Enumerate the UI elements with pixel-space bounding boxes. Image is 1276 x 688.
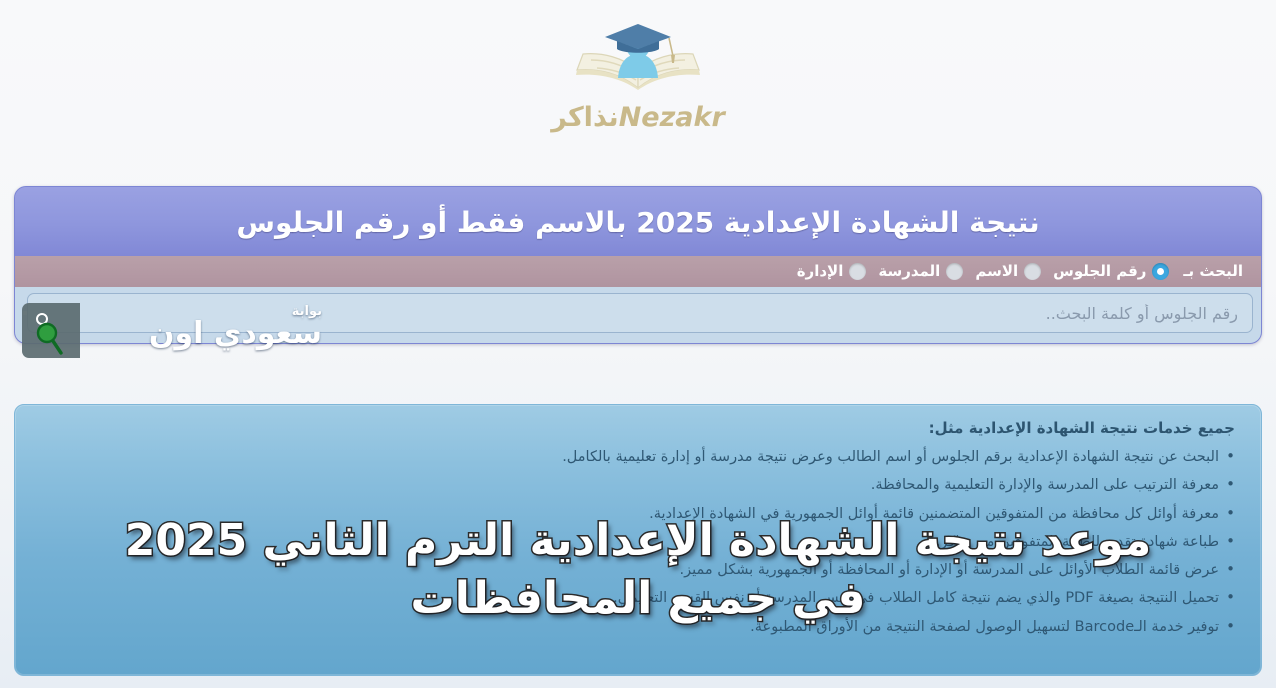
logo-word-en: Nezakr: [619, 102, 725, 133]
radio-dot-icon[interactable]: [1024, 263, 1041, 280]
graduation-book-logo-icon: [543, 16, 733, 102]
search-mode-radio-group: البحث بـ رقم الجلوس الاسم المدرسة الإدار…: [15, 256, 1261, 287]
services-info-panel: جميع خدمات نتيجة الشهادة الإعدادية مثل: …: [14, 404, 1262, 676]
page-title: نتيجة الشهادة الإعدادية 2025 بالاسم فقط …: [15, 187, 1261, 256]
radio-option-seat-number[interactable]: رقم الجلوس: [1053, 262, 1169, 280]
search-by-label: البحث بـ: [1183, 262, 1243, 280]
radio-label-school: المدرسة: [878, 262, 940, 280]
search-input[interactable]: [27, 293, 1253, 333]
site-logo[interactable]: Nezakrنذاكر: [0, 16, 1276, 144]
list-item: تحميل النتيجة بصيغة PDF والذي يضم نتيجة …: [41, 584, 1235, 612]
radio-option-administration[interactable]: الإدارة: [797, 262, 867, 280]
services-heading: جميع خدمات نتيجة الشهادة الإعدادية مثل:: [41, 419, 1235, 437]
radio-label-name: الاسم: [975, 262, 1018, 280]
logo-word-ar: نذاكر: [551, 102, 619, 133]
list-item: معرفة الترتيب على المدرسة والإدارة التعل…: [41, 471, 1235, 499]
search-submit-button[interactable]: [23, 311, 27, 315]
radio-label-seat-number: رقم الجلوس: [1053, 262, 1146, 280]
services-list: البحث عن نتيجة الشهادة الإعدادية برقم ال…: [41, 443, 1235, 641]
radio-dot-icon[interactable]: [946, 263, 963, 280]
radio-option-school[interactable]: المدرسة: [878, 262, 963, 280]
radio-dot-icon[interactable]: [849, 263, 866, 280]
list-item: عرض قائمة الطلاب الأوائل على المدرسة أو …: [41, 556, 1235, 584]
search-row: [15, 287, 1261, 343]
result-search-card: نتيجة الشهادة الإعدادية 2025 بالاسم فقط …: [14, 186, 1262, 344]
radio-label-administration: الإدارة: [797, 262, 844, 280]
page-root: Nezakrنذاكر نتيجة الشهادة الإعدادية 2025…: [0, 0, 1276, 688]
list-item: معرفة أوائل كل محافظة من المتفوقين المتض…: [41, 500, 1235, 528]
list-item: البحث عن نتيجة الشهادة الإعدادية برقم ال…: [41, 443, 1235, 471]
list-item: توفير خدمة الـBarcode لتسهيل الوصول لصفح…: [41, 613, 1235, 641]
logo-wordmark: Nezakrنذاكر: [551, 104, 725, 131]
list-item: طباعة شهادة تقدير للطلبة المتفوقين من نذ…: [41, 528, 1235, 556]
radio-dot-selected-icon[interactable]: [1152, 263, 1169, 280]
radio-option-name[interactable]: الاسم: [975, 262, 1041, 280]
